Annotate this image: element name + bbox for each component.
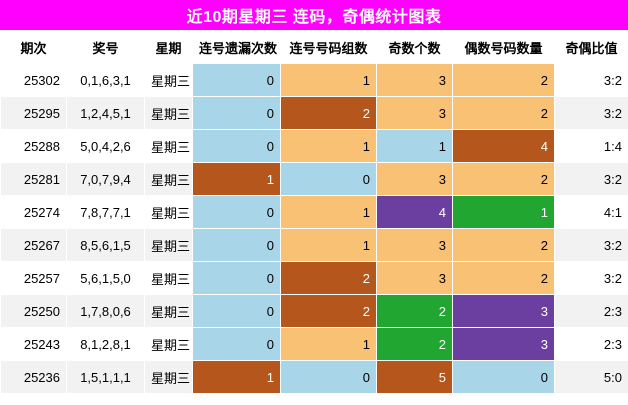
cell-weekday: 星期三 bbox=[145, 295, 193, 328]
cell-ratio: 1:4 bbox=[555, 130, 628, 163]
cell-period: 25243 bbox=[1, 328, 67, 361]
cell-period: 25281 bbox=[1, 163, 67, 196]
cell-miss: 0 bbox=[193, 262, 281, 295]
cell-miss: 1 bbox=[193, 361, 281, 394]
cell-odd: 1 bbox=[377, 130, 453, 163]
column-header-miss: 连号遗漏次数 bbox=[193, 31, 281, 64]
cell-numbers: 1,7,8,0,6 bbox=[67, 295, 145, 328]
cell-ratio: 2:3 bbox=[555, 328, 628, 361]
table-row: 252361,5,1,1,1星期三10505:0 bbox=[1, 361, 628, 394]
column-header-odd: 奇数个数 bbox=[377, 31, 453, 64]
cell-groups: 0 bbox=[281, 163, 377, 196]
table-row: 252951,2,4,5,1星期三02323:2 bbox=[1, 97, 628, 130]
cell-weekday: 星期三 bbox=[145, 130, 193, 163]
column-header-ratio: 奇偶比值 bbox=[555, 31, 628, 64]
cell-groups: 2 bbox=[281, 295, 377, 328]
cell-ratio: 3:2 bbox=[555, 64, 628, 97]
cell-ratio: 3:2 bbox=[555, 229, 628, 262]
cell-miss: 0 bbox=[193, 229, 281, 262]
cell-even: 3 bbox=[453, 295, 555, 328]
cell-numbers: 5,0,4,2,6 bbox=[67, 130, 145, 163]
cell-even: 2 bbox=[453, 163, 555, 196]
cell-ratio: 5:0 bbox=[555, 361, 628, 394]
cell-ratio: 4:1 bbox=[555, 196, 628, 229]
cell-numbers: 8,5,6,1,5 bbox=[67, 229, 145, 262]
cell-miss: 0 bbox=[193, 328, 281, 361]
page-title: 近10期星期三 连码，奇偶统计图表 bbox=[0, 0, 628, 30]
cell-odd: 5 bbox=[377, 361, 453, 394]
cell-period: 25236 bbox=[1, 361, 67, 394]
cell-weekday: 星期三 bbox=[145, 262, 193, 295]
cell-even: 2 bbox=[453, 64, 555, 97]
cell-ratio: 3:2 bbox=[555, 262, 628, 295]
cell-odd: 3 bbox=[377, 97, 453, 130]
table-header: 期次 奖号 星期 连号遗漏次数 连号号码组数 奇数个数 偶数号码数量 奇偶比值 bbox=[1, 31, 628, 64]
cell-even: 2 bbox=[453, 262, 555, 295]
cell-groups: 0 bbox=[281, 361, 377, 394]
cell-numbers: 0,1,6,3,1 bbox=[67, 64, 145, 97]
cell-odd: 2 bbox=[377, 328, 453, 361]
column-header-period: 期次 bbox=[1, 31, 67, 64]
cell-weekday: 星期三 bbox=[145, 328, 193, 361]
cell-numbers: 1,5,1,1,1 bbox=[67, 361, 145, 394]
table-row: 253020,1,6,3,1星期三01323:2 bbox=[1, 64, 628, 97]
cell-period: 25257 bbox=[1, 262, 67, 295]
cell-odd: 3 bbox=[377, 163, 453, 196]
cell-ratio: 3:2 bbox=[555, 163, 628, 196]
cell-odd: 3 bbox=[377, 262, 453, 295]
table-row: 252817,0,7,9,4星期三10323:2 bbox=[1, 163, 628, 196]
cell-period: 25274 bbox=[1, 196, 67, 229]
cell-ratio: 3:2 bbox=[555, 97, 628, 130]
cell-groups: 1 bbox=[281, 196, 377, 229]
cell-numbers: 1,2,4,5,1 bbox=[67, 97, 145, 130]
cell-groups: 1 bbox=[281, 64, 377, 97]
column-header-even: 偶数号码数量 bbox=[453, 31, 555, 64]
cell-numbers: 5,6,1,5,0 bbox=[67, 262, 145, 295]
cell-weekday: 星期三 bbox=[145, 64, 193, 97]
cell-groups: 1 bbox=[281, 130, 377, 163]
cell-groups: 2 bbox=[281, 262, 377, 295]
column-header-weekday: 星期 bbox=[145, 31, 193, 64]
column-header-numbers: 奖号 bbox=[67, 31, 145, 64]
table-row: 252678,5,6,1,5星期三01323:2 bbox=[1, 229, 628, 262]
table-row: 252885,0,4,2,6星期三01141:4 bbox=[1, 130, 628, 163]
cell-period: 25250 bbox=[1, 295, 67, 328]
statistics-table: 期次 奖号 星期 连号遗漏次数 连号号码组数 奇数个数 偶数号码数量 奇偶比值 … bbox=[0, 30, 628, 394]
cell-miss: 0 bbox=[193, 64, 281, 97]
cell-groups: 1 bbox=[281, 229, 377, 262]
cell-weekday: 星期三 bbox=[145, 229, 193, 262]
cell-miss: 0 bbox=[193, 97, 281, 130]
cell-weekday: 星期三 bbox=[145, 97, 193, 130]
cell-odd: 4 bbox=[377, 196, 453, 229]
cell-even: 2 bbox=[453, 229, 555, 262]
table-row: 252438,1,2,8,1星期三01232:3 bbox=[1, 328, 628, 361]
page-root: 近10期星期三 连码，奇偶统计图表 期次 奖号 星期 连号遗漏次数 连号号码组数… bbox=[0, 0, 628, 405]
cell-even: 4 bbox=[453, 130, 555, 163]
cell-even: 2 bbox=[453, 97, 555, 130]
cell-weekday: 星期三 bbox=[145, 361, 193, 394]
cell-groups: 1 bbox=[281, 328, 377, 361]
page-title-text: 近10期星期三 连码，奇偶统计图表 bbox=[187, 3, 442, 27]
cell-even: 3 bbox=[453, 328, 555, 361]
cell-numbers: 8,1,2,8,1 bbox=[67, 328, 145, 361]
cell-ratio: 2:3 bbox=[555, 295, 628, 328]
table-row: 252501,7,8,0,6星期三02232:3 bbox=[1, 295, 628, 328]
table-row: 252747,8,7,7,1星期三01414:1 bbox=[1, 196, 628, 229]
cell-groups: 2 bbox=[281, 97, 377, 130]
cell-period: 25288 bbox=[1, 130, 67, 163]
cell-odd: 3 bbox=[377, 64, 453, 97]
cell-odd: 2 bbox=[377, 295, 453, 328]
column-header-groups: 连号号码组数 bbox=[281, 31, 377, 64]
table-row: 252575,6,1,5,0星期三02323:2 bbox=[1, 262, 628, 295]
cell-period: 25267 bbox=[1, 229, 67, 262]
cell-miss: 0 bbox=[193, 295, 281, 328]
cell-miss: 0 bbox=[193, 196, 281, 229]
cell-miss: 1 bbox=[193, 163, 281, 196]
table-body: 253020,1,6,3,1星期三01323:2252951,2,4,5,1星期… bbox=[1, 64, 628, 394]
cell-even: 1 bbox=[453, 196, 555, 229]
cell-weekday: 星期三 bbox=[145, 163, 193, 196]
cell-numbers: 7,8,7,7,1 bbox=[67, 196, 145, 229]
cell-odd: 3 bbox=[377, 229, 453, 262]
cell-period: 25295 bbox=[1, 97, 67, 130]
cell-weekday: 星期三 bbox=[145, 196, 193, 229]
cell-numbers: 7,0,7,9,4 bbox=[67, 163, 145, 196]
cell-even: 0 bbox=[453, 361, 555, 394]
header-row: 期次 奖号 星期 连号遗漏次数 连号号码组数 奇数个数 偶数号码数量 奇偶比值 bbox=[1, 31, 628, 64]
cell-miss: 0 bbox=[193, 130, 281, 163]
cell-period: 25302 bbox=[1, 64, 67, 97]
